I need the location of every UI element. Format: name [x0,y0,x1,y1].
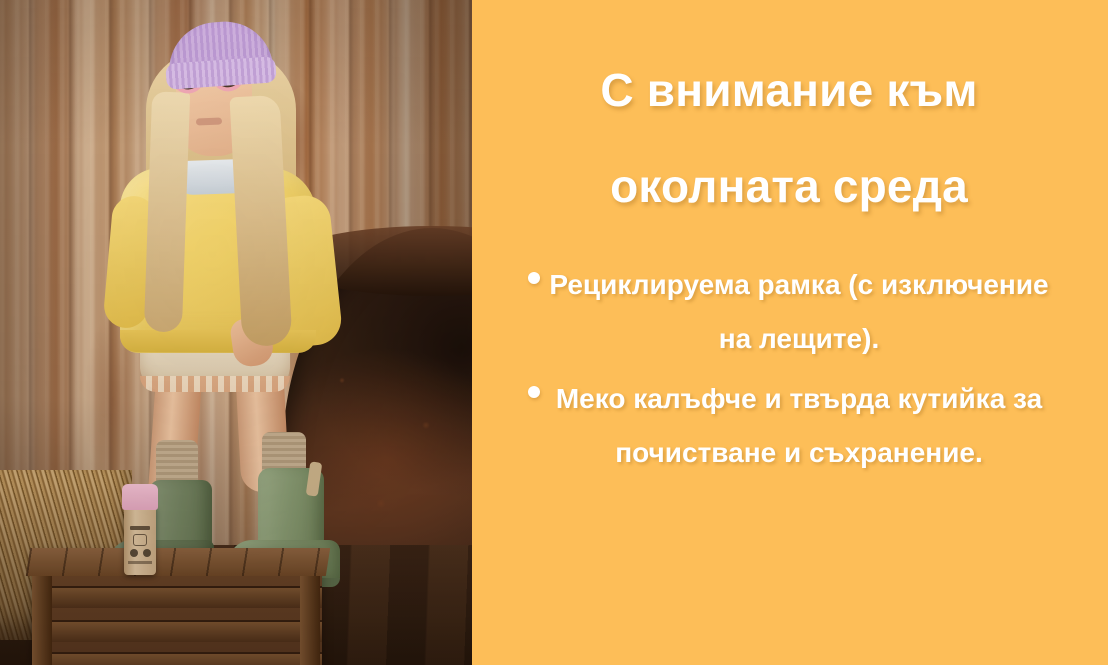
panel-headline: С внимание към околната среда [514,42,1064,234]
photo-color-grade [0,0,472,665]
bullet-text: Меко калъфче и твърда кутийка за почиств… [540,372,1056,480]
list-item: Меко калъфче и твърда кутийка за почиств… [518,372,1056,480]
list-item: Рециклируема рамка (с изключение на лещи… [518,258,1056,366]
bullet-dot-icon [528,386,540,398]
eco-promo-banner: С внимание към околната среда Рециклируе… [0,0,1108,665]
product-lifestyle-photo [0,0,472,665]
copy-panel: С внимание към околната среда Рециклируе… [472,0,1108,665]
bullet-text: Рециклируема рамка (с изключение на лещи… [540,258,1056,366]
bullet-dot-icon [528,272,540,284]
feature-bullet-list: Рециклируема рамка (с изключение на лещи… [518,258,1056,486]
